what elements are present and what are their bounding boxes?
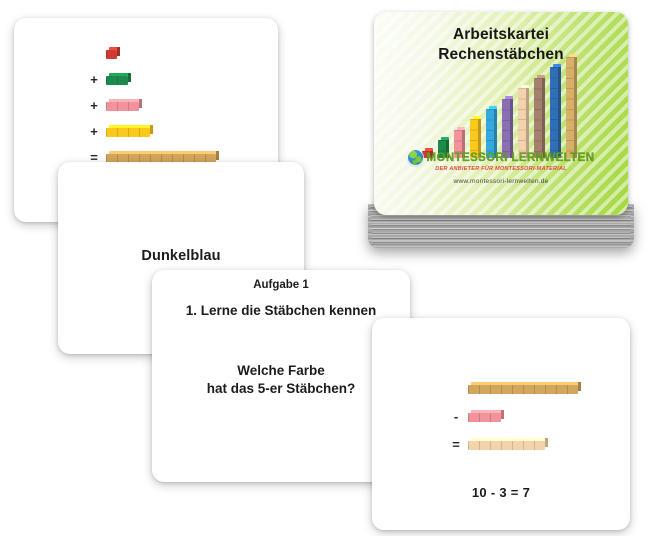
- equation-operator: +: [86, 125, 102, 138]
- rod-side: [542, 78, 545, 158]
- addition-rows: ++++=: [14, 40, 278, 170]
- stack-layer: [372, 226, 631, 230]
- task-title: 1. Lerne die Stäbchen kennen: [152, 303, 410, 318]
- subtraction-rows: +-=: [372, 374, 630, 458]
- rod-face: [534, 78, 542, 158]
- brand-logo: MONTESSORI LERNWELTEN DER ANBIETER FÜR M…: [374, 150, 628, 185]
- rod-bar-10: [566, 54, 577, 158]
- subtraction-result: 10 - 3 = 7: [372, 485, 630, 500]
- rod-2: [106, 73, 131, 85]
- rod-side: [526, 88, 529, 158]
- card-stack[interactable]: Arbeitskartei Rechenstäbchen MONTESSORI …: [366, 8, 636, 246]
- rod-side: [545, 438, 548, 447]
- cover-card[interactable]: Arbeitskartei Rechenstäbchen MONTESSORI …: [374, 12, 628, 215]
- rod-face: [550, 67, 558, 158]
- logo-url: www.montessori-lernwelten.de: [374, 178, 628, 185]
- equation-operator: =: [448, 438, 464, 451]
- rod-4: [106, 125, 153, 137]
- stack-layer: [372, 239, 629, 243]
- equation-row: +: [14, 40, 278, 66]
- rod-side: [558, 67, 561, 158]
- rod-face: [468, 385, 578, 394]
- stack-layer: [371, 222, 631, 226]
- equation-row: =: [372, 430, 630, 458]
- equation-row: +: [14, 66, 278, 92]
- rod-side: [139, 99, 142, 108]
- rod-side: [578, 382, 581, 391]
- equation-row: -: [372, 402, 630, 430]
- stack-layer: [371, 217, 631, 221]
- rod-face: [106, 50, 117, 59]
- rod-side: [501, 410, 504, 419]
- rod-side: [216, 151, 219, 160]
- subtraction-card[interactable]: +-= 10 - 3 = 7: [372, 318, 630, 530]
- rod-10: [468, 382, 581, 394]
- task-number: Aufgabe 1: [152, 279, 410, 291]
- equation-operator: -: [448, 410, 464, 423]
- equation-row: +: [14, 92, 278, 118]
- rod-1: [106, 47, 120, 59]
- rod-bar-6: [502, 96, 513, 158]
- screenshot-stage: ++++= Dunkelblau Aufgabe 1 1. Lerne die …: [0, 0, 670, 536]
- logo-tagline: DER ANBIETER FÜR MONTESSORI-MATERIAL: [374, 166, 628, 172]
- globe-icon: [408, 150, 423, 165]
- logo-line: MONTESSORI LERNWELTEN: [374, 150, 628, 165]
- logo-name: MONTESSORI LERNWELTEN: [427, 152, 595, 164]
- rod-bar-8: [534, 75, 545, 158]
- rod-face: [468, 441, 545, 450]
- rod-face: [106, 102, 139, 111]
- task-question-line-1: Welche Farbe: [237, 363, 325, 378]
- rod-3: [468, 410, 504, 422]
- rod-face: [106, 128, 150, 137]
- rod-face: [106, 76, 128, 85]
- rod-side: [574, 57, 577, 158]
- stack-layer: [372, 235, 630, 239]
- answer-text: Dunkelblau: [58, 248, 304, 264]
- equation-operator: +: [86, 99, 102, 112]
- equation-operator: +: [86, 73, 102, 86]
- rod-side: [117, 47, 120, 56]
- rod-side: [128, 73, 131, 82]
- rod-face: [518, 88, 526, 158]
- equation-row: +: [372, 374, 630, 402]
- rod-7: [468, 438, 548, 450]
- rod-bar-7: [518, 85, 529, 158]
- rod-bar-chart: [422, 54, 596, 158]
- rod-side: [150, 125, 153, 134]
- stack-layer: [372, 230, 630, 234]
- task-question-line-2: hat das 5-er Stäbchen?: [207, 381, 356, 396]
- rod-3: [106, 99, 142, 111]
- rod-face: [468, 413, 501, 422]
- rod-face: [566, 57, 574, 158]
- rod-bar-9: [550, 64, 561, 158]
- cover-title-line-1: Arbeitskartei: [453, 26, 549, 43]
- equation-row: +: [14, 118, 278, 144]
